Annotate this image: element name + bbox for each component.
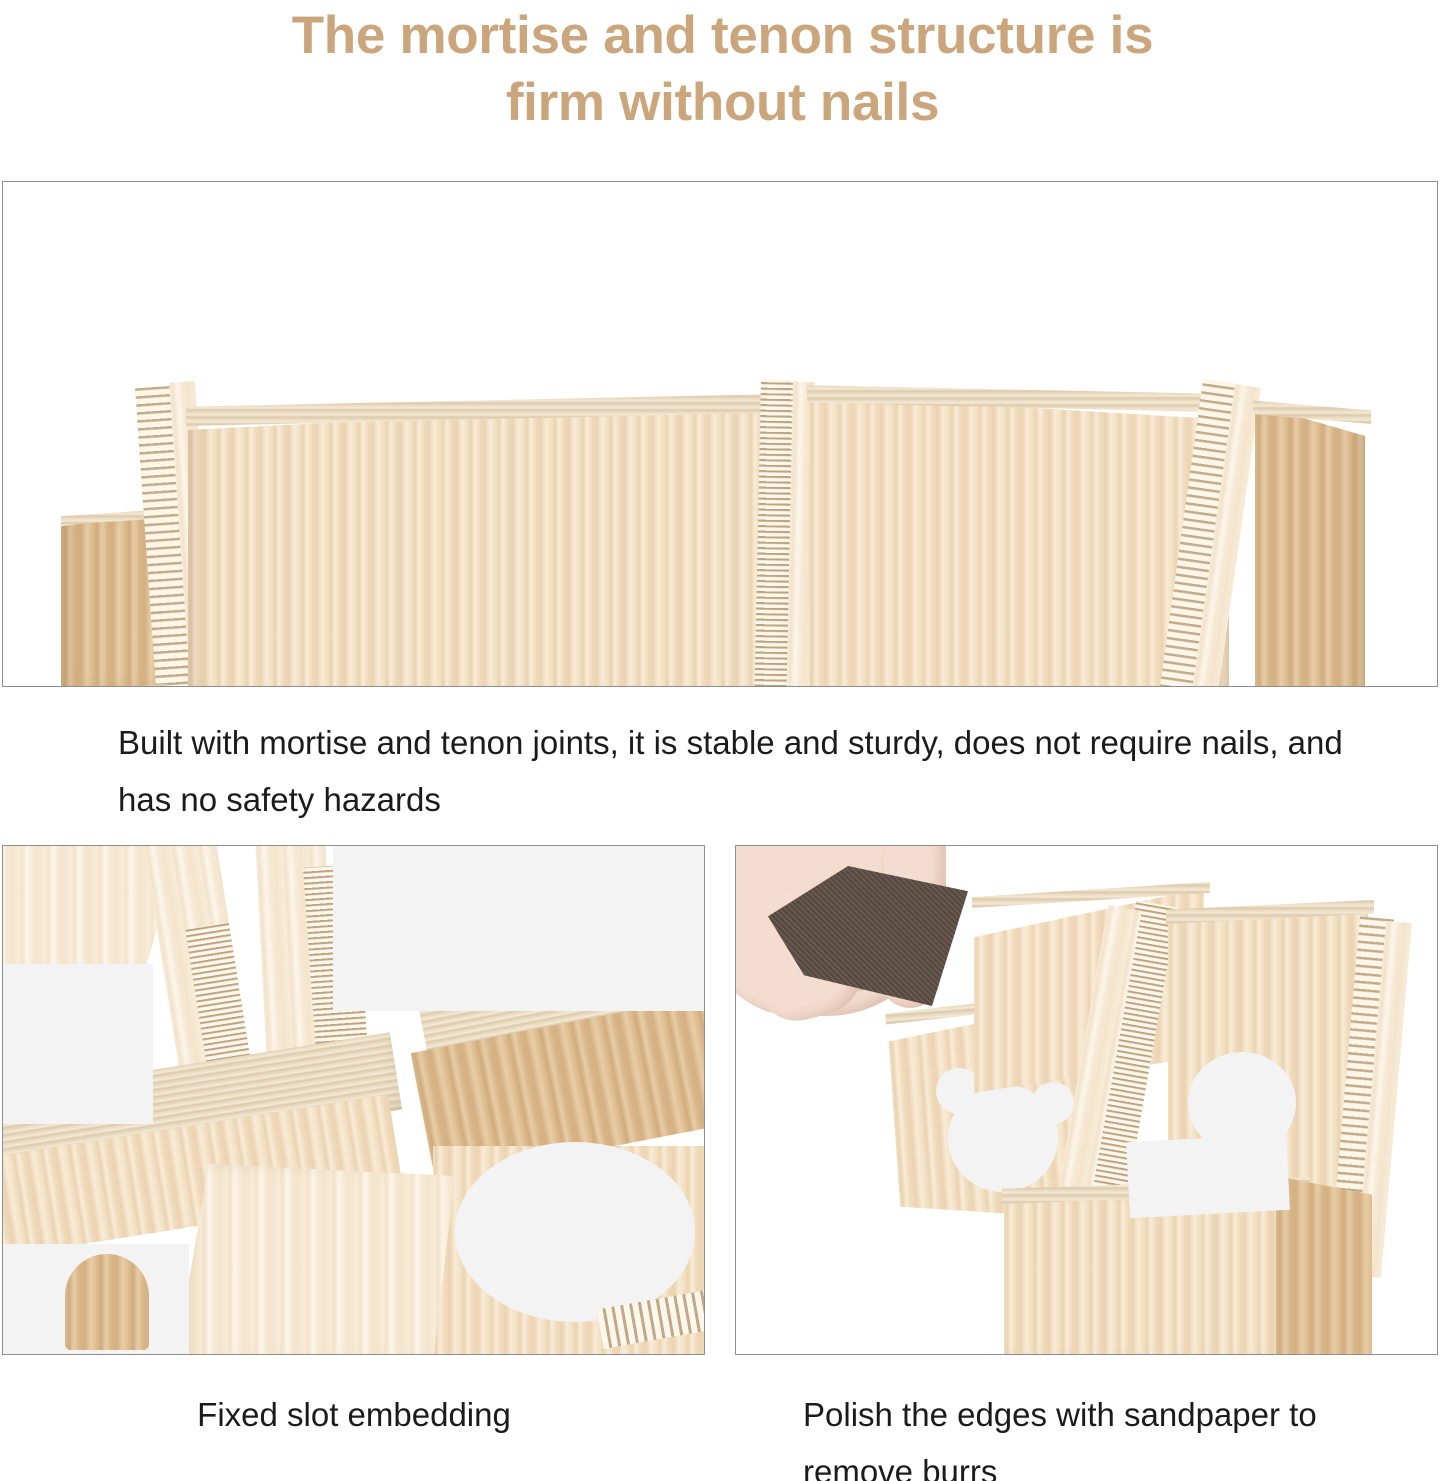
page-title: The mortise and tenon structure is firm … <box>0 2 1445 136</box>
hero-scene <box>3 182 1437 686</box>
panel-2-photo <box>735 845 1438 1355</box>
hero-photo <box>2 181 1438 687</box>
page-title-line-2: firm without nails <box>0 69 1445 136</box>
back-wall-left <box>188 400 773 686</box>
p2-white-card <box>1126 1134 1290 1218</box>
panel-2-caption: Polish the edges with sandpaper to remov… <box>803 1386 1381 1481</box>
p1-bottom-vertical-board <box>175 1164 455 1354</box>
panel-1-caption: Fixed slot embedding <box>44 1386 664 1443</box>
p2-lower-box-side <box>1276 1176 1372 1354</box>
p1-small-notch-tab <box>65 1254 149 1350</box>
panel-2-scene <box>736 846 1437 1354</box>
panel-1-photo <box>2 845 705 1355</box>
page-title-line-1: The mortise and tenon structure is <box>0 2 1445 69</box>
right-outer-board <box>1255 404 1365 686</box>
p1-arch-cutout <box>455 1142 695 1322</box>
infographic-page: The mortise and tenon structure is firm … <box>0 0 1445 1481</box>
hero-caption: Built with mortise and tenon joints, it … <box>118 714 1348 828</box>
p2-bear-cutout-ear-right <box>1032 1082 1074 1124</box>
p1-backdrop-left <box>3 964 153 1124</box>
p1-backdrop-upper-right <box>333 846 704 1011</box>
panel-1-scene <box>3 846 704 1354</box>
